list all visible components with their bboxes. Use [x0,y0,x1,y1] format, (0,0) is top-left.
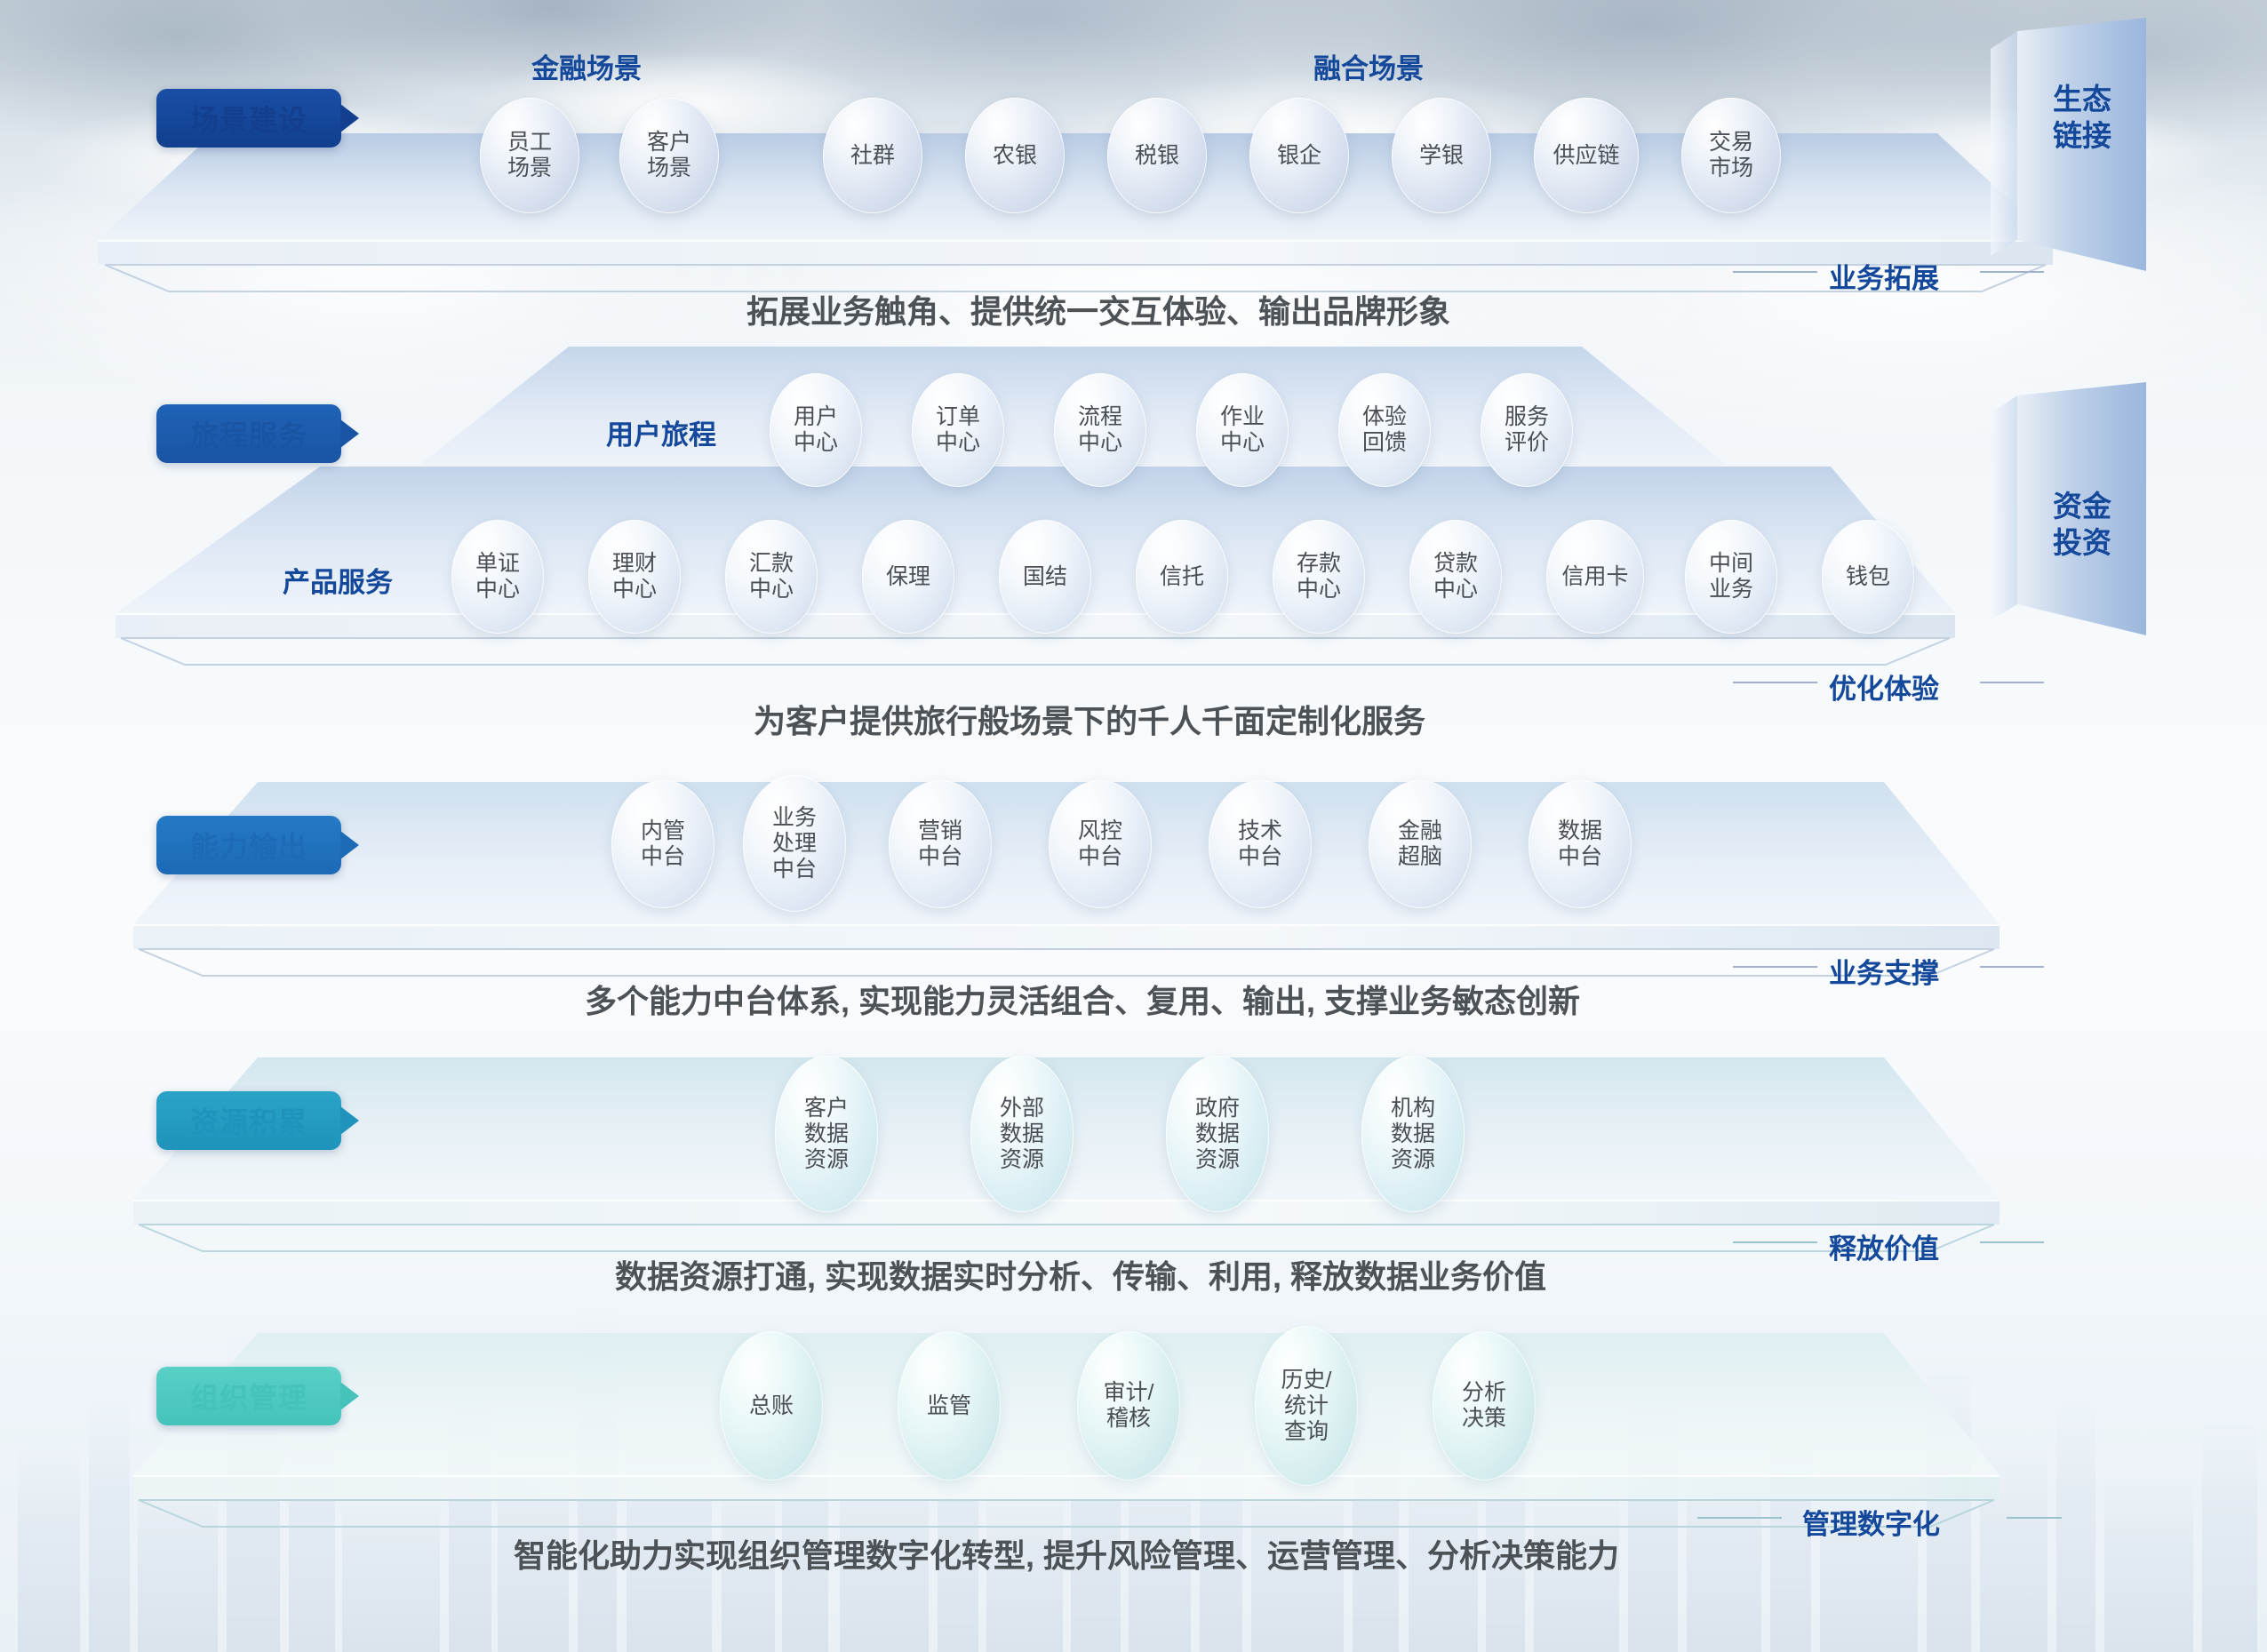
layer-pill-journey[interactable]: 旅程服务 [156,404,341,463]
node-label: 金融超脑 [1398,818,1442,870]
node-label: 内管中台 [641,818,685,870]
node-product-intermediary-business[interactable]: 中间业务 [1685,520,1777,634]
node-capability-marketing[interactable]: 营销中台 [889,780,992,908]
node-product-document-center[interactable]: 单证中心 [451,520,544,634]
rule-left-business-support [1733,966,1817,968]
rule-right-business-expansion [1980,271,2044,273]
node-label: 政府数据资源 [1195,1096,1240,1173]
node-label: 供应链 [1553,143,1619,169]
band-resource-shape [98,1057,2053,1253]
node-label: 汇款中心 [749,551,794,603]
layer-pill-scene-label: 场景建设 [190,98,307,139]
node-product-wallet[interactable]: 钱包 [1822,520,1914,634]
node-journey-user-center[interactable]: 用户中心 [770,373,862,487]
node-label: 流程中心 [1078,404,1122,456]
node-scene-trading-market[interactable]: 交易市场 [1681,98,1781,213]
node-label: 信用卡 [1561,564,1628,590]
node-product-factoring[interactable]: 保理 [862,520,954,634]
ribbon-capital-line1: 资金 [2033,489,2131,525]
node-org-supervision[interactable]: 监管 [898,1331,1001,1480]
group-title-fusion-scene: 融合场景 [1313,46,1424,86]
rule-right-optimize-experience [1980,682,2044,683]
node-scene-supply-chain[interactable]: 供应链 [1534,98,1639,213]
layer-pill-organization-label: 组织管理 [190,1376,307,1417]
node-label: 风控中台 [1078,818,1122,870]
rule-left-management-digitalization [1697,1517,1782,1519]
node-label: 审计/稽核 [1104,1380,1154,1432]
node-label: 外部数据资源 [1000,1096,1044,1173]
ribbon-ecosystem-label: 生态 链接 [2033,82,2131,155]
node-product-deposit-center[interactable]: 存款中心 [1273,520,1365,634]
node-scene-employee[interactable]: 员工场景 [480,98,579,213]
node-label: 单证中心 [475,551,520,603]
group-title-financial-scene: 金融场景 [531,46,642,86]
node-label: 社群 [850,143,895,169]
row-title-user-journey: 用户旅程 [606,412,716,452]
node-product-intl-settlement[interactable]: 国结 [999,520,1091,634]
ribbon-capital-label: 资金 投资 [2033,489,2131,562]
node-label: 钱包 [1846,564,1890,590]
node-product-trust[interactable]: 信托 [1136,520,1228,634]
node-label: 总账 [749,1393,794,1419]
node-label: 机构数据资源 [1391,1096,1435,1173]
node-capability-business-processing[interactable]: 业务处理中台 [743,775,846,912]
right-label-release-value: 释放价值 [1829,1226,1939,1266]
ribbon-ecosystem-line2: 链接 [2033,118,2131,155]
node-product-credit-card[interactable]: 信用卡 [1546,520,1644,634]
node-label: 客户场景 [647,130,691,181]
caption-journey: 为客户提供旅行般场景下的千人千面定制化服务 [754,696,1425,742]
node-scene-community[interactable]: 社群 [823,98,922,213]
rule-right-business-support [1980,966,2044,968]
ribbon-ecosystem-line1: 生态 [2033,82,2131,118]
node-label: 订单中心 [936,404,980,456]
node-label: 监管 [927,1393,971,1419]
node-label: 业务处理中台 [772,805,817,882]
rule-left-business-expansion [1733,271,1817,273]
node-label: 信托 [1160,564,1204,590]
layer-pill-resource[interactable]: 资源积累 [156,1091,341,1150]
node-label: 银企 [1277,143,1321,169]
rule-left-optimize-experience [1733,682,1817,683]
node-label: 员工场景 [507,130,552,181]
node-capability-data[interactable]: 数据中台 [1529,780,1632,908]
caption-scene: 拓展业务触角、提供统一交互体验、输出品牌形象 [746,286,1450,332]
node-resource-institution-data[interactable]: 机构数据资源 [1361,1056,1465,1212]
node-org-analysis-decision[interactable]: 分析决策 [1433,1331,1536,1480]
layer-pill-organization[interactable]: 组织管理 [156,1367,341,1425]
node-label: 国结 [1023,564,1067,590]
node-label: 作业中心 [1220,404,1265,456]
node-journey-experience-feedback[interactable]: 体验回馈 [1338,373,1431,487]
layer-pill-capability-label: 能力输出 [190,825,307,866]
node-scene-bank-enterprise[interactable]: 银企 [1249,98,1349,213]
node-org-history-statistics-query[interactable]: 历史/统计查询 [1255,1326,1358,1486]
node-label: 用户中心 [794,404,838,456]
node-org-general-ledger[interactable]: 总账 [720,1331,823,1480]
node-label: 税银 [1135,143,1179,169]
node-journey-order-center[interactable]: 订单中心 [912,373,1004,487]
node-label: 贷款中心 [1433,551,1478,603]
ribbon-ecosystem-shape [1991,18,2204,302]
node-journey-process-center[interactable]: 流程中心 [1054,373,1146,487]
layer-pill-resource-label: 资源积累 [190,1100,307,1141]
node-label: 数据中台 [1558,818,1602,870]
rule-right-management-digitalization [2007,1517,2062,1519]
right-label-business-expansion: 业务拓展 [1829,256,1939,296]
node-scene-agri-bank[interactable]: 农银 [965,98,1065,213]
rule-left-release-value [1733,1241,1817,1243]
node-product-remittance-center[interactable]: 汇款中心 [725,520,818,634]
node-journey-operation-center[interactable]: 作业中心 [1196,373,1289,487]
rule-right-release-value [1980,1241,2044,1243]
caption-organization: 智能化助力实现组织管理数字化转型, 提升风险管理、运营管理、分析决策能力 [514,1530,1619,1576]
node-label: 营销中台 [918,818,962,870]
caption-resource: 数据资源打通, 实现数据实时分析、传输、利用, 释放数据业务价值 [615,1251,1546,1297]
node-label: 服务评价 [1505,404,1549,456]
node-label: 学银 [1419,143,1464,169]
node-journey-service-rating[interactable]: 服务评价 [1481,373,1573,487]
node-label: 存款中心 [1297,551,1341,603]
layer-pill-scene[interactable]: 场景建设 [156,89,341,148]
node-label: 保理 [886,564,930,590]
caption-capability: 多个能力中台体系, 实现能力灵活组合、复用、输出, 支撑业务敏态创新 [585,976,1580,1022]
right-label-optimize-experience: 优化体验 [1829,666,1939,706]
node-label: 分析决策 [1462,1380,1506,1432]
node-label: 农银 [993,143,1037,169]
node-label: 中间业务 [1709,551,1753,603]
right-label-business-support: 业务支撑 [1829,951,1939,991]
node-label: 交易市场 [1709,130,1753,181]
node-label: 体验回馈 [1362,404,1407,456]
node-org-audit[interactable]: 审计/稽核 [1077,1331,1180,1480]
node-scene-tax-bank[interactable]: 税银 [1107,98,1207,213]
node-product-wealth-center[interactable]: 理财中心 [588,520,681,634]
node-capability-finance-brain[interactable]: 金融超脑 [1369,780,1472,908]
node-label: 理财中心 [612,551,657,603]
layer-pill-capability[interactable]: 能力输出 [156,816,341,874]
node-resource-government-data[interactable]: 政府数据资源 [1166,1056,1269,1212]
right-label-management-digitalization: 管理数字化 [1802,1502,1940,1542]
node-scene-customer[interactable]: 客户场景 [619,98,719,213]
node-product-loan-center[interactable]: 贷款中心 [1409,520,1502,634]
node-scene-edu-bank[interactable]: 学银 [1392,98,1491,213]
ribbon-capital-line2: 投资 [2033,525,2131,562]
node-resource-customer-data[interactable]: 客户数据资源 [775,1056,878,1212]
node-capability-risk-control[interactable]: 风控中台 [1049,780,1152,908]
node-resource-external-data[interactable]: 外部数据资源 [970,1056,1074,1212]
node-label: 客户数据资源 [804,1096,849,1173]
layer-pill-journey-label: 旅程服务 [190,413,307,454]
node-label: 历史/统计查询 [1281,1368,1332,1445]
node-capability-technology[interactable]: 技术中台 [1209,780,1312,908]
node-label: 技术中台 [1238,818,1282,870]
node-capability-internal-mgmt[interactable]: 内管中台 [611,780,714,908]
row-title-product-service: 产品服务 [283,560,393,600]
band-organization-shape [98,1333,2053,1528]
